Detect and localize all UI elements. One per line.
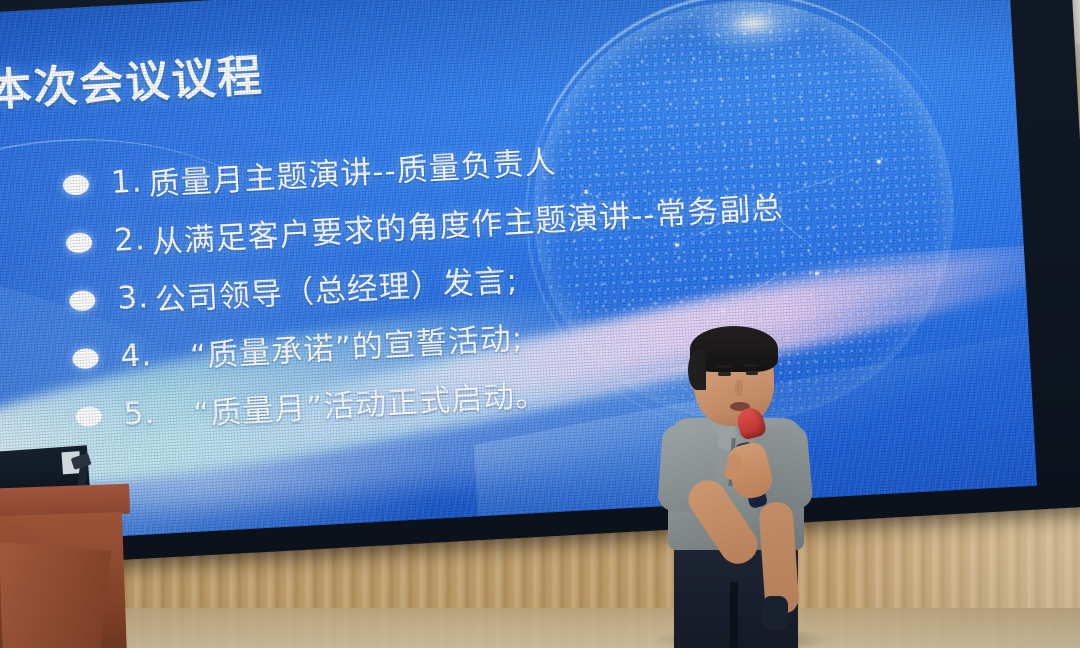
- screen-panel: 本次会议议程 1. 质量月主题演讲--质量负责人 2. 从满足客户要求的角度作主…: [0, 0, 1037, 543]
- led-screen: 本次会议议程 1. 质量月主题演讲--质量负责人 2. 从满足客户要求的角度作主…: [0, 0, 1080, 567]
- floor: [0, 608, 1080, 648]
- eyebrow-right: [744, 364, 759, 367]
- led-pixel-grid: [0, 0, 1037, 543]
- hand-right: [762, 596, 788, 630]
- eyebrow-left: [716, 365, 732, 368]
- eye-left: [718, 372, 731, 376]
- lectern: [0, 483, 143, 648]
- nose: [735, 380, 743, 396]
- presenter: [634, 326, 864, 648]
- trouser-seam: [730, 582, 738, 648]
- eye-right: [746, 371, 758, 375]
- hair-side: [688, 350, 706, 390]
- presentation-photo: 本次会议议程 1. 质量月主题演讲--质量负责人 2. 从满足客户要求的角度作主…: [0, 0, 1080, 648]
- lectern-front-panel: [0, 538, 115, 648]
